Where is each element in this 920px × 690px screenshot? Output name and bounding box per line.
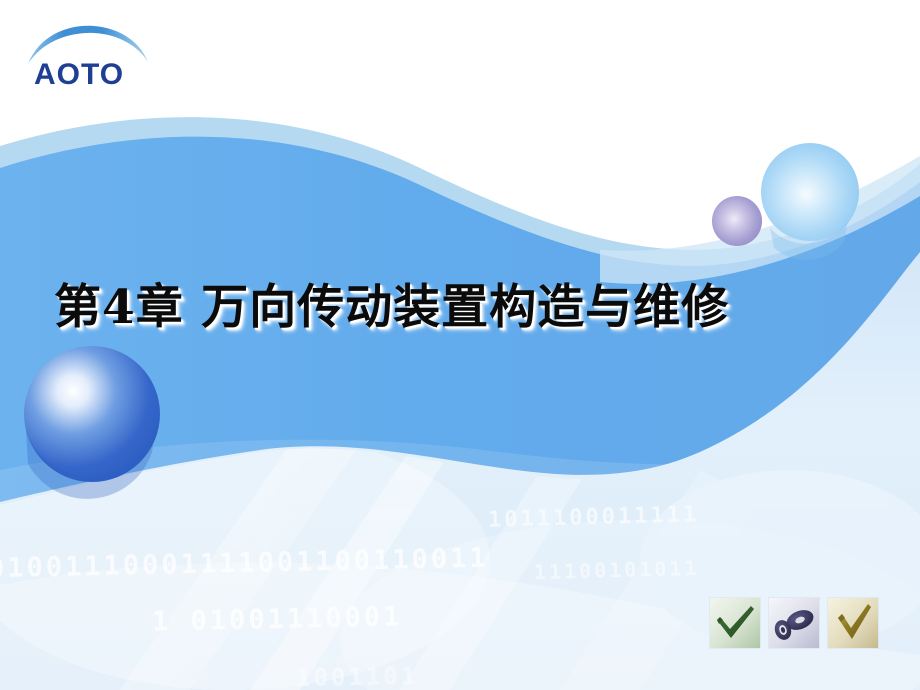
aoto-wordmark: AOTO [34, 60, 124, 90]
title-area: 第4章 万向传动装置构造与维修 [0, 272, 920, 344]
slide-title: 第4章 万向传动装置构造与维修 [54, 283, 729, 332]
thumbnail-green-check[interactable] [710, 598, 760, 648]
thumbnail-gold-check[interactable] [828, 598, 878, 648]
thumbnail-dark-rings[interactable] [769, 598, 819, 648]
thumbnail-strip [710, 598, 878, 648]
slide-background-art [0, 0, 920, 690]
presentation-slide: 01001110001111001100110011 1 01001110001… [0, 0, 920, 690]
sphere-purple-small [712, 196, 762, 246]
aoto-logo: AOTO [22, 22, 152, 94]
